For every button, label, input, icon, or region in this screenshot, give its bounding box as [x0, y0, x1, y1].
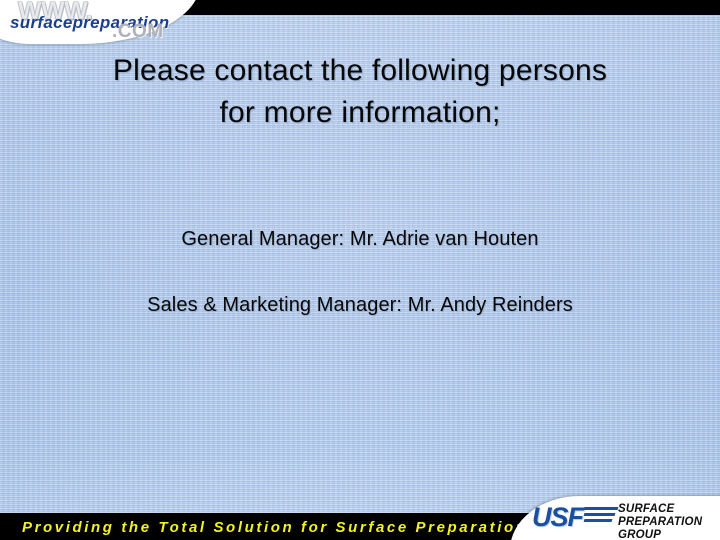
usf-logo-mark: USF — [532, 502, 583, 533]
usf-group-logo: USF SURFACE PREPARATION GROUP — [526, 496, 712, 536]
contact-sales-marketing-manager: Sales & Marketing Manager: Mr. Andy Rein… — [40, 294, 680, 317]
website-logo-tld: .COM — [112, 21, 164, 43]
usf-logo-stripes-icon — [584, 507, 618, 526]
footer-tagline: Providing the Total Solution for Surface… — [22, 519, 528, 536]
slide-title-line-1: Please contact the following persons — [40, 50, 680, 92]
slide-title-line-2: for more information; — [40, 92, 680, 134]
website-logo: WWW. surfacepreparation .COM — [8, 0, 198, 44]
slide-title: Please contact the following persons for… — [40, 50, 680, 134]
usf-logo-wordmark: SURFACE PREPARATION GROUP — [618, 503, 712, 540]
usf-logo-line-2: GROUP — [618, 529, 712, 540]
presentation-slide: WWW. surfacepreparation .COM Please cont… — [0, 0, 720, 540]
slide-body: General Manager: Mr. Adrie van Houten Sa… — [40, 228, 680, 317]
usf-logo-line-1: SURFACE PREPARATION — [618, 503, 712, 529]
contact-general-manager: General Manager: Mr. Adrie van Houten — [40, 228, 680, 251]
